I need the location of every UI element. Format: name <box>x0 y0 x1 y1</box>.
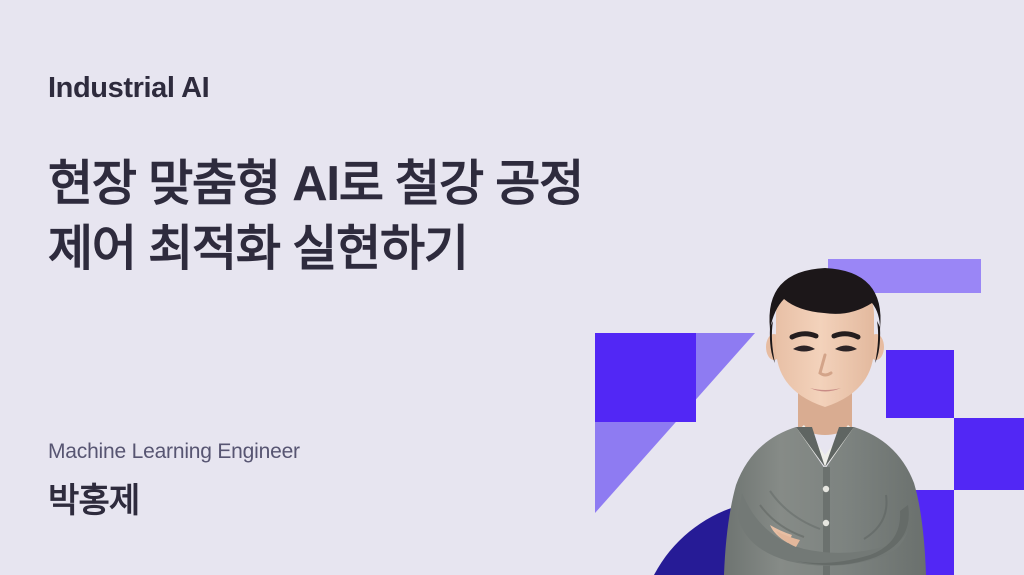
speaker-name-label: 박홍제 <box>48 473 139 522</box>
headline-line-1: 현장 맞춤형 AI로 철강 공정 <box>48 152 583 217</box>
slide-text-column: Industrial AI 현장 맞춤형 AI로 철강 공정 제어 최적화 실현… <box>48 0 608 575</box>
square-accent-main-shape <box>595 333 696 422</box>
presentation-slide: Industrial AI 현장 맞춤형 AI로 철강 공정 제어 최적화 실현… <box>0 0 1024 575</box>
slide-eyebrow-label: Industrial AI <box>48 72 209 105</box>
speaker-portrait-image <box>700 255 950 575</box>
headline-line-2: 제어 최적화 실현하기 <box>48 217 583 282</box>
slide-headline: 현장 맞춤형 AI로 철강 공정 제어 최적화 실현하기 <box>48 152 583 282</box>
checker-square-b-shape <box>954 418 1024 490</box>
speaker-role-label: Machine Learning Engineer <box>48 440 300 464</box>
